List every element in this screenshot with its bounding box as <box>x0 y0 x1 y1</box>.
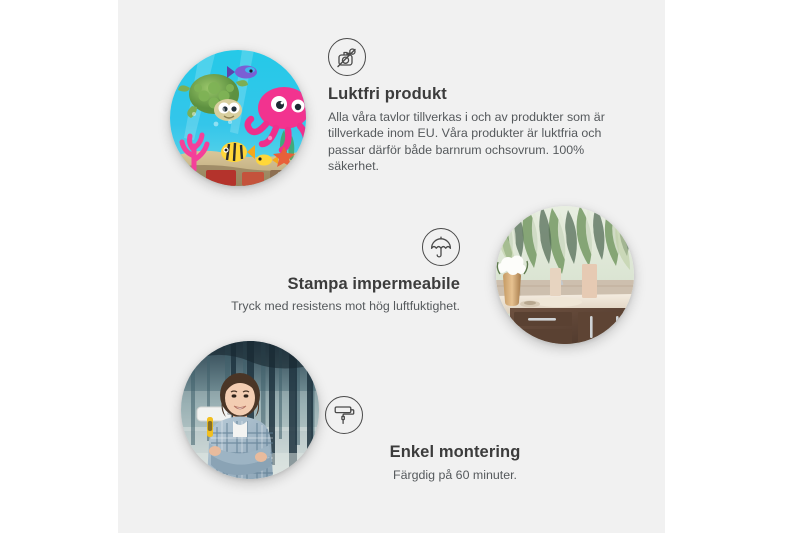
image-bathroom-vanity-scene <box>496 206 634 344</box>
umbrella-icon <box>422 228 460 266</box>
feature-title: Enkel montering <box>325 443 585 462</box>
image-woman-with-paint-roller-forest-scene <box>181 341 319 479</box>
feature-luktfri-produkt: Luktfri produkt Alla våra tavlor tillver… <box>328 38 633 175</box>
feature-body: Alla våra tavlor tillverkas i och av pro… <box>328 109 633 175</box>
paint-roller-icon <box>325 396 363 434</box>
screenshot-canvas: Luktfri produkt Alla våra tavlor tillver… <box>0 0 800 533</box>
feature-enkel-montering: Enkel montering Färgdig på 60 minuter. <box>325 396 585 483</box>
feature-title: Stampa impermeabile <box>208 275 460 294</box>
no-fragrance-bottle-icon <box>328 38 366 76</box>
feature-body: Färgdig på 60 minuter. <box>325 467 585 483</box>
feature-title: Luktfri produkt <box>328 85 633 104</box>
feature-stampa-impermeabile: Stampa impermeabile Tryck med resistens … <box>208 228 460 314</box>
feature-body: Tryck med resistens mot hög luftfuktighe… <box>208 298 460 314</box>
image-underwater-cartoon-scene <box>170 50 306 186</box>
